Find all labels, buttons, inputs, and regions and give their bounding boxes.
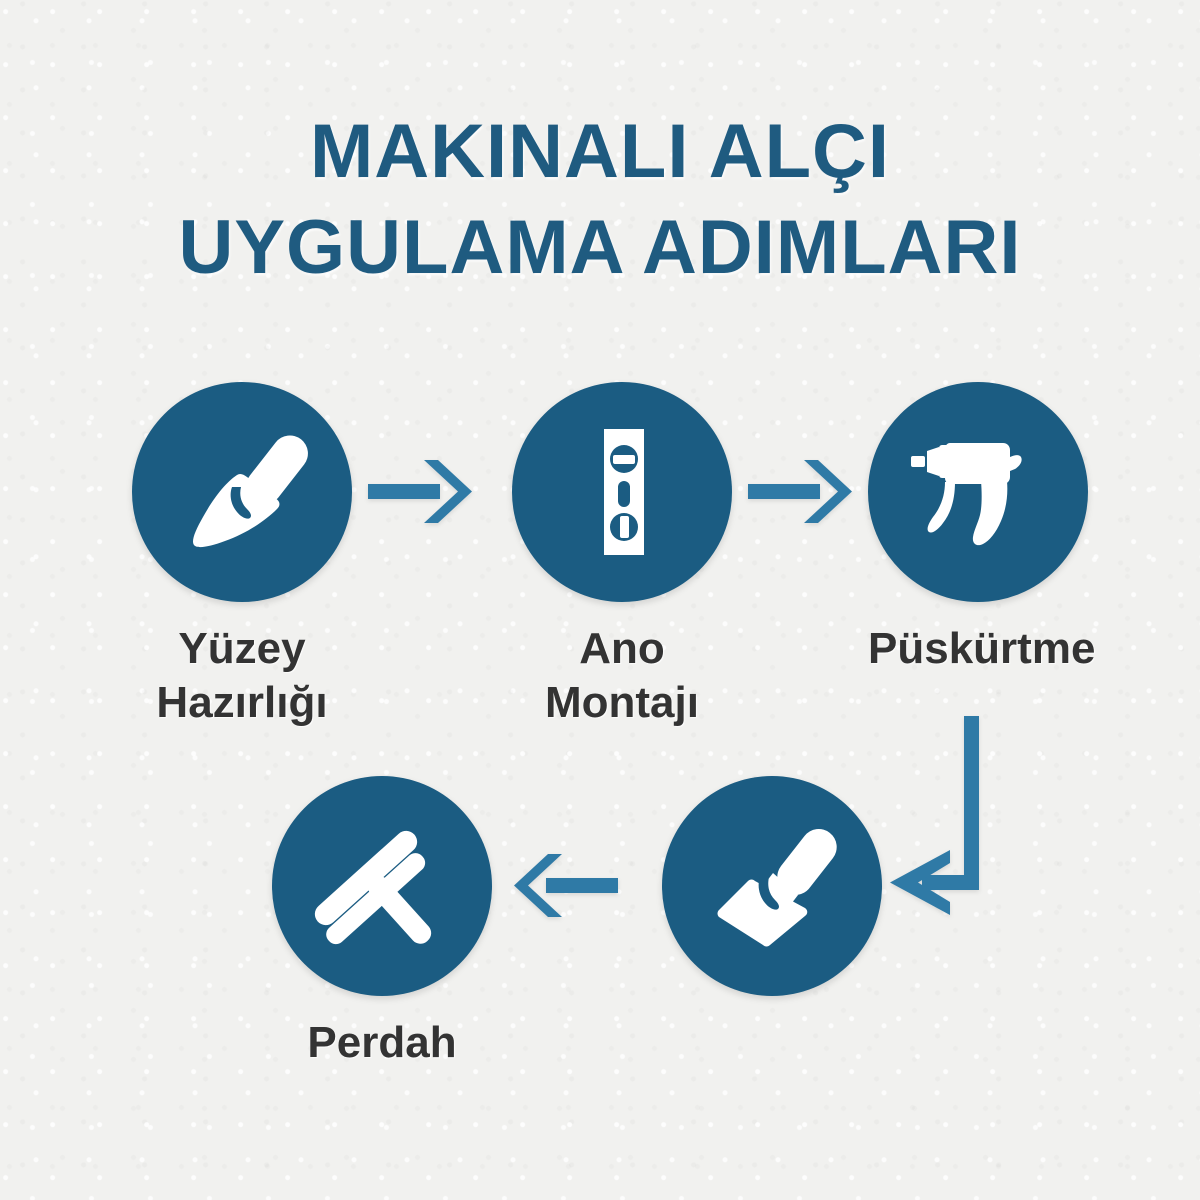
squeegee-float-icon xyxy=(307,811,457,961)
step-5-icon-circle xyxy=(272,776,492,996)
title-line-1: MAKINALI ALÇI xyxy=(0,104,1200,200)
step-2-icon-circle xyxy=(512,382,732,602)
step-finishing[interactable]: Perdah xyxy=(272,776,492,1070)
step-1-icon-circle xyxy=(132,382,352,602)
arrow-elbow-down-left-icon xyxy=(888,716,998,916)
arrow-right-icon xyxy=(748,452,860,532)
arrow-step3-to-step4 xyxy=(888,716,998,916)
arrow-step4-to-step5 xyxy=(506,846,618,926)
page-title: MAKINALI ALÇI UYGULAMA ADIMLARI xyxy=(0,104,1200,296)
step-5-label: Perdah xyxy=(272,1016,492,1070)
spirit-level-icon xyxy=(547,417,697,567)
arrow-step2-to-step3 xyxy=(748,452,860,532)
step-surface-preparation[interactable]: Yüzey Hazırlığı xyxy=(132,382,352,730)
infographic-canvas: MAKINALI ALÇI UYGULAMA ADIMLARI Yüzey Ha… xyxy=(0,0,1200,1200)
spray-gun-icon xyxy=(903,417,1053,567)
title-line-2: UYGULAMA ADIMLARI xyxy=(0,200,1200,296)
step-bead-installation[interactable]: Ano Montajı xyxy=(512,382,732,730)
square-trowel-icon xyxy=(697,811,847,961)
pointed-trowel-icon xyxy=(167,417,317,567)
arrow-left-icon xyxy=(506,846,618,926)
step-4-icon-circle xyxy=(662,776,882,996)
step-1-label: Yüzey Hazırlığı xyxy=(77,622,407,730)
step-spraying[interactable]: Püskürtme xyxy=(868,382,1088,676)
step-3-label: Püskürtme xyxy=(868,622,1088,676)
arrow-step1-to-step2 xyxy=(368,452,480,532)
step-3-icon-circle xyxy=(868,382,1088,602)
arrow-right-icon xyxy=(368,452,480,532)
step-2-label: Ano Montajı xyxy=(457,622,787,730)
step-troweling[interactable] xyxy=(662,776,882,996)
